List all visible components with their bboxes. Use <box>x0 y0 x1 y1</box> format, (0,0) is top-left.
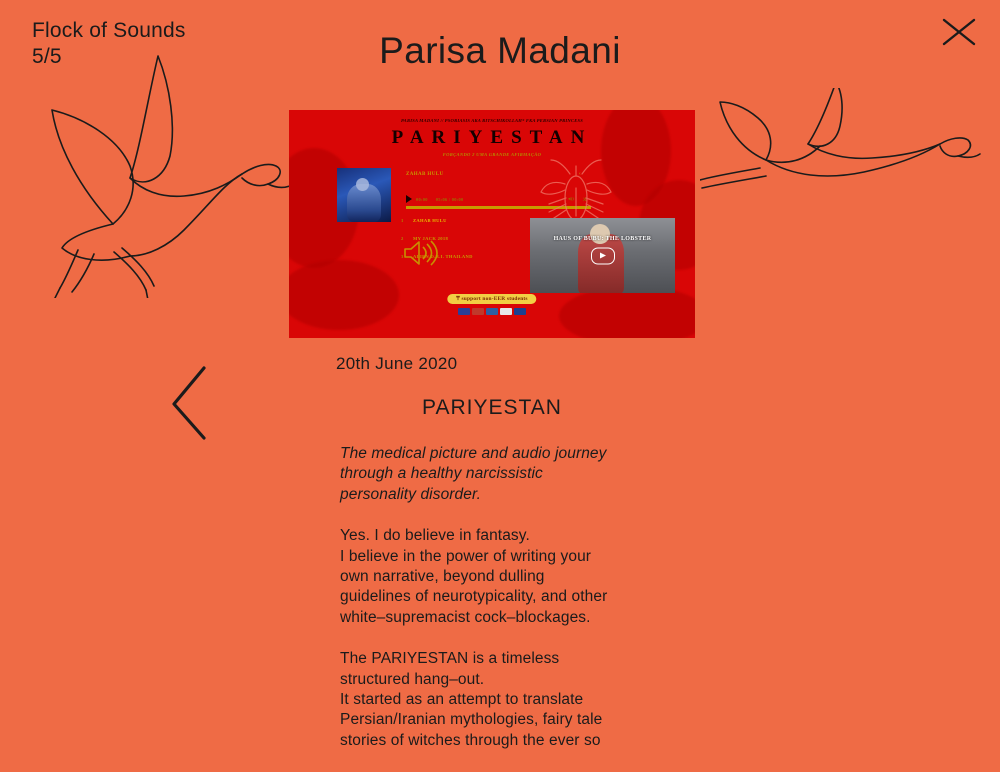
article-paragraph: The PARIYESTAN is a timeless structured … <box>340 649 648 751</box>
play-icon <box>600 253 606 259</box>
now-playing-title: ZAHAB HULU <box>406 172 443 177</box>
video-title: HAUS OF BUBU: THE LOBSTER <box>530 236 675 242</box>
decor-blob <box>289 260 399 330</box>
close-button[interactable] <box>936 10 982 56</box>
chevron-left-icon <box>160 362 220 442</box>
play-icon[interactable] <box>406 195 412 203</box>
track-number: 1 <box>401 218 413 223</box>
card-icon <box>458 308 470 315</box>
card-icon <box>486 308 498 315</box>
card-icon <box>514 308 526 315</box>
card-icon <box>472 308 484 315</box>
embed-subkicker: FORÇANDO 2 UMA GRANDE AFIRMAÇÃO <box>289 152 695 157</box>
close-x-icon <box>936 10 982 56</box>
article-body: 20th June 2020 PARIYESTAN The medical pi… <box>336 354 648 772</box>
support-button[interactable]: ₸ support non-EER students <box>447 294 536 304</box>
speaker-icon <box>402 238 438 268</box>
payment-card-icons <box>458 308 526 315</box>
decor-blob <box>559 286 695 338</box>
embed-kicker: PARISA MADANI // PSORIASIS AKA RITSCHIKO… <box>289 118 695 123</box>
article-date: 20th June 2020 <box>336 354 648 374</box>
card-icon <box>500 308 512 315</box>
article-paragraph: Yes. I do believe in fantasy. I believe … <box>340 526 648 628</box>
previous-button[interactable] <box>160 362 220 442</box>
embed-wordmark: PARIYESTAN <box>289 127 695 149</box>
cover-head <box>356 178 369 191</box>
flamingo-left-icon <box>18 38 318 298</box>
elapsed-time: 00:00 <box>416 197 428 202</box>
article-heading: PARIYESTAN <box>336 396 648 420</box>
page-title: Parisa Madani <box>0 30 1000 72</box>
album-cover-art <box>337 168 391 222</box>
flamingo-right-icon <box>700 88 1000 213</box>
embedded-website-screenshot[interactable]: PARISA MADANI // PSORIASIS AKA RITSCHIKO… <box>289 110 695 338</box>
article-paragraph: The medical picture and audio journey th… <box>340 444 648 505</box>
video-play-button[interactable] <box>591 247 615 264</box>
video-embed[interactable]: HAUS OF BUBU: THE LOBSTER <box>530 218 675 293</box>
total-time: 05:06 / 00:00 <box>436 197 464 202</box>
